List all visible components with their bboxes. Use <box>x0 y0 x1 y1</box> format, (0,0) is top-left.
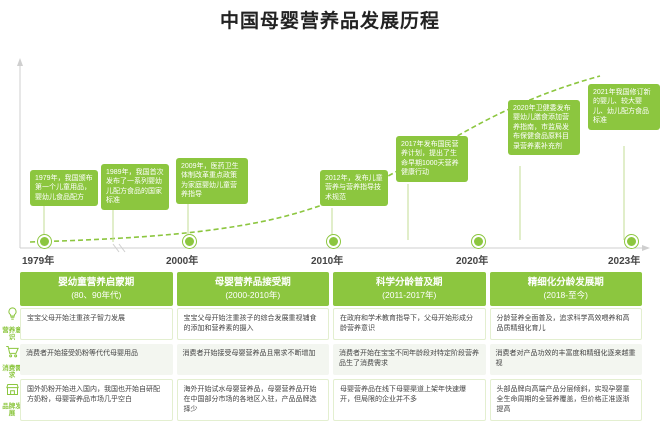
year-label-2000: 2000年 <box>166 252 198 267</box>
callout-1979[interactable]: 1979年，我国颁布第一个儿童用品，婴幼儿食品配方 <box>30 170 98 206</box>
phase-header-row: 婴幼童营养启蒙期 (80、90年代) 母婴营养品接受期 (2000-2010年)… <box>20 272 642 306</box>
phase-3[interactable]: 科学分龄普及期 (2011-2017年) <box>333 272 486 306</box>
shop-icon <box>5 382 20 397</box>
cell-awareness-1: 宝宝父母开始注重孩子智力发展 <box>20 308 173 340</box>
page-title: 中国母婴营养品发展历程 <box>0 6 660 33</box>
cell-brand-1: 国外奶粉开始进入国内，我国也开始自研配方奶粉，母婴营养品市场几乎空白 <box>20 379 173 421</box>
x-axis-arrow <box>642 245 650 251</box>
cell-awareness-3: 在政府和学术教育指导下，父母开始形成分龄营养意识 <box>333 308 486 340</box>
cell-awareness-2: 宝宝父母开始注重孩子的综合发展重视铺食的添加和营养素的摄入 <box>177 308 330 340</box>
cell-demand-3: 消费者开始在宝宝不同年龄段对特定阶段营养品生了消费需求 <box>333 344 486 374</box>
year-label-2010: 2010年 <box>311 252 343 267</box>
matrix-row-demand: 消费者开始接受奶粉等代代母婴用品 消费者开始接受母婴营养品且需求不断增加 消费者… <box>20 344 642 374</box>
cell-brand-4: 头部品牌向高端产品分层倾斜，实现孕婴童全生命周期的全营养覆盖，但价格正准逐渐提高 <box>490 379 643 421</box>
matrix-row-brand: 国外奶粉开始进入国内，我国也开始自研配方奶粉，母婴营养品市场几乎空白 海外开始试… <box>20 379 642 421</box>
cell-demand-4: 消费者对产品功效的丰富度和精细化逐来越重视 <box>490 344 643 374</box>
phase-2-period: (2000-2010年) <box>225 290 280 301</box>
callout-2017[interactable]: 2017年发布国民营养计划，提出了生命早期1000天营养健康行动 <box>396 136 468 182</box>
timeline-node-2020[interactable] <box>472 235 485 248</box>
year-label-2023: 2023年 <box>608 252 640 267</box>
y-axis-arrow <box>17 58 23 66</box>
callout-2012[interactable]: 2012年，发布儿童营养与营养指导技术规范 <box>320 170 388 206</box>
cell-brand-2: 海外开始试水母婴营养品，母婴营养品开始在中国部分市场的各地区入驻，产品品牌选择少 <box>177 379 330 421</box>
phase-1[interactable]: 婴幼童营养启蒙期 (80、90年代) <box>20 272 173 306</box>
lightbulb-icon <box>5 306 20 321</box>
phase-4[interactable]: 精细化分龄发展期 (2018-至今) <box>490 272 643 306</box>
callout-2021[interactable]: 2021年我国修订新的婴儿、较大婴儿、幼儿配方食品标准 <box>588 84 660 130</box>
cart-icon <box>5 344 20 359</box>
year-label-2020: 2020年 <box>456 252 488 267</box>
phase-1-name: 婴幼童营养启蒙期 <box>58 277 134 290</box>
callout-2009[interactable]: 2009年，医药卫生体制改革重点政策为家庭婴幼儿童营养指导 <box>176 158 248 204</box>
comparison-matrix: 宝宝父母开始注重孩子智力发展 宝宝父母开始注重孩子的综合发展重视铺食的添加和营养… <box>20 308 642 425</box>
phase-2[interactable]: 母婴营养品接受期 (2000-2010年) <box>177 272 330 306</box>
cell-brand-3: 母婴营养品在线下母婴渠道上架年快速爆开，但局限的企业并不多 <box>333 379 486 421</box>
phase-2-name: 母婴营养品接受期 <box>215 277 291 290</box>
timeline-node-2010[interactable] <box>327 235 340 248</box>
callout-2020[interactable]: 2020年卫健委发布婴幼儿膳食添加营养指南，市监局发布保健食品原料目录营养素补充… <box>508 100 580 155</box>
phase-4-period: (2018-至今) <box>544 290 588 301</box>
phase-3-name: 科学分龄普及期 <box>376 277 443 290</box>
timeline-curve-area: 1979年，我国颁布第一个儿童用品，婴幼儿食品配方 1989年，我国首次发布了一… <box>0 36 660 258</box>
timeline-node-2000[interactable] <box>183 235 196 248</box>
phase-4-name: 精细化分龄发展期 <box>528 277 604 290</box>
axis-year-labels: 1979年 2000年 2010年 2020年 2023年 <box>0 252 660 268</box>
callout-1989[interactable]: 1989年，我国首次发布了一系列婴幼儿配方食品的国家标准 <box>101 164 169 210</box>
phase-3-period: (2011-2017年) <box>382 290 436 301</box>
cell-demand-1: 消费者开始接受奶粉等代代母婴用品 <box>20 344 173 374</box>
cell-awareness-4: 分龄营养全面普及，追求科学高效喂养和高品质精细化育儿 <box>490 308 643 340</box>
year-label-1979: 1979年 <box>22 252 54 267</box>
cell-demand-2: 消费者开始接受母婴营养品且需求不断增加 <box>177 344 330 374</box>
matrix-row-awareness: 宝宝父母开始注重孩子智力发展 宝宝父母开始注重孩子的综合发展重视铺食的添加和营养… <box>20 308 642 340</box>
phase-1-period: (80、90年代) <box>71 290 121 301</box>
timeline-node-2023[interactable] <box>625 235 638 248</box>
timeline-node-1979[interactable] <box>38 235 51 248</box>
